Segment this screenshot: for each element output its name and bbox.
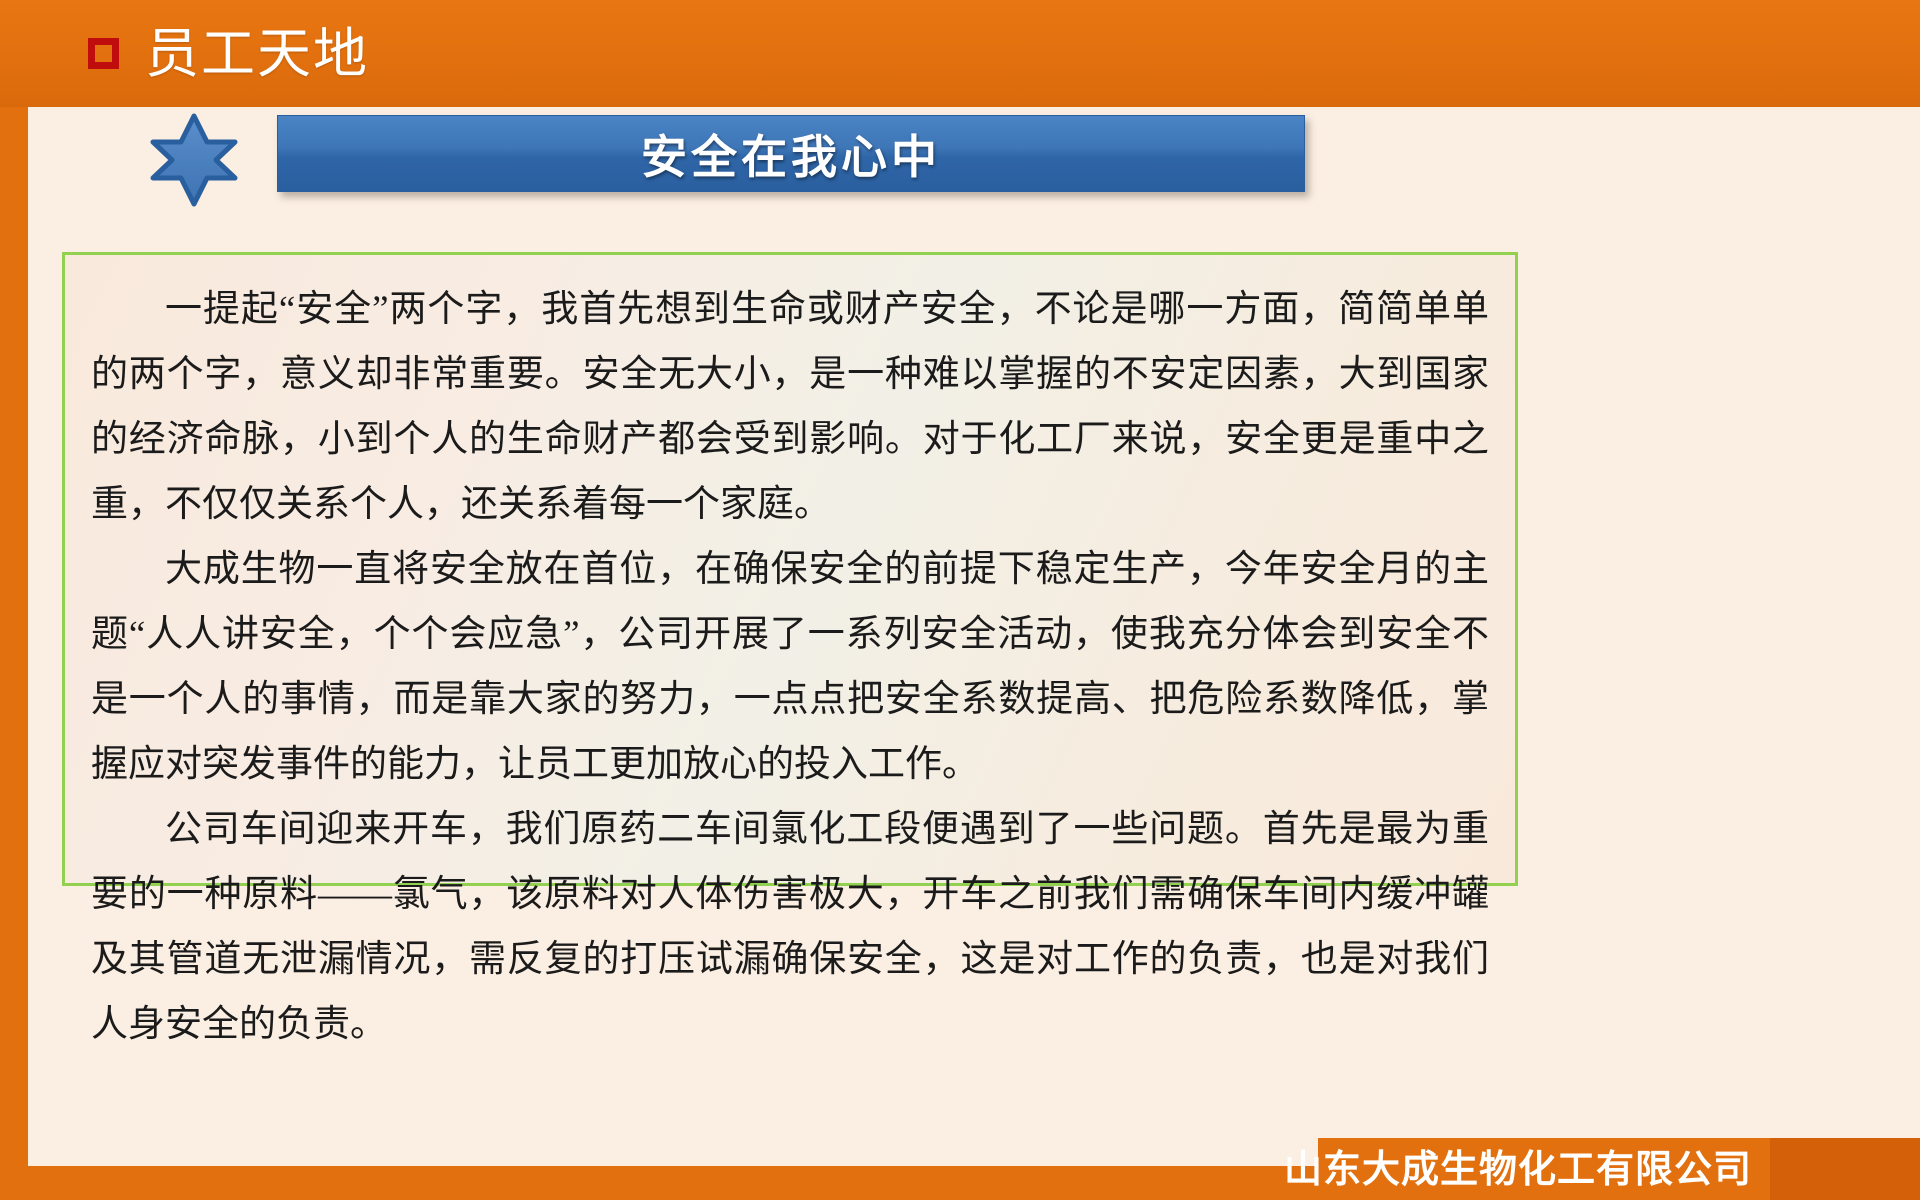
left-orange-rail xyxy=(0,0,28,1200)
header-content: 员工天地 xyxy=(0,0,1920,107)
page-title: 员工天地 xyxy=(145,27,369,81)
footer-band: 山东大成生物化工有限公司 xyxy=(0,1138,1920,1200)
square-bullet-icon xyxy=(88,38,119,69)
article-content-box: 一提起“安全”两个字，我首先想到生命或财产安全，不论是哪一方面，简简单单的两个字… xyxy=(62,252,1518,886)
section-title-banner: 安全在我心中 xyxy=(277,115,1305,192)
footer-cream-inset xyxy=(28,1138,1318,1166)
article-paragraph: 大成生物一直将安全放在首位，在确保安全的前提下稳定生产，今年安全月的主题“人人讲… xyxy=(91,537,1489,797)
section-title-text: 安全在我心中 xyxy=(641,121,941,187)
six-pointed-star-icon xyxy=(150,112,238,208)
footer-accent-block xyxy=(1770,1138,1920,1200)
company-name: 山东大成生物化工有限公司 xyxy=(1284,1138,1752,1193)
article-paragraph: 公司车间迎来开车，我们原药二车间氯化工段便遇到了一些问题。首先是最为重要的一种原… xyxy=(91,797,1489,1057)
header-band: 员工天地 xyxy=(0,0,1920,107)
slide-canvas: 员工天地 安全在我心中 一提起“安全”两个字，我首先想到生命或财产安全，不论是哪… xyxy=(0,0,1920,1200)
article-paragraph: 一提起“安全”两个字，我首先想到生命或财产安全，不论是哪一方面，简简单单的两个字… xyxy=(91,277,1489,537)
